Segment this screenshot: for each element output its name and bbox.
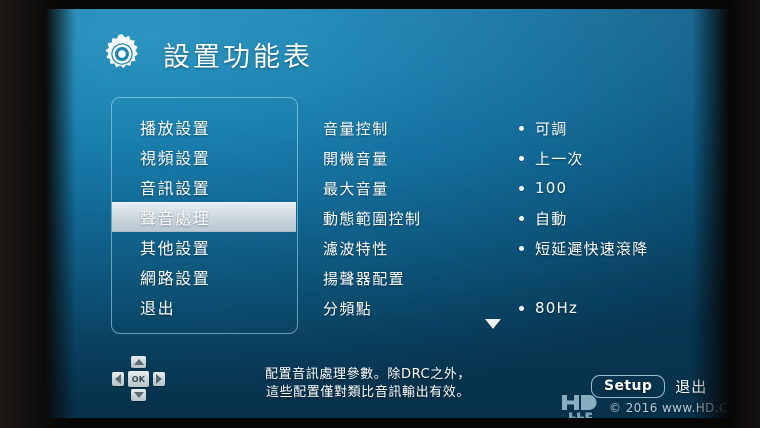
bullet-icon	[519, 156, 524, 161]
setting-value-group: 上一次	[519, 148, 584, 169]
setting-value-group: 可調	[519, 118, 567, 139]
setting-value-group	[519, 276, 535, 281]
setting-label: 最大音量	[323, 178, 519, 199]
setting-value-group: 100	[519, 179, 567, 197]
setting-value-group: 80Hz	[519, 299, 578, 317]
dpad-up-key[interactable]	[131, 356, 146, 368]
sidebar-item[interactable]: 音訊設置	[112, 172, 297, 202]
setting-row[interactable]: 揚聲器配置	[323, 263, 703, 293]
sidebar-item[interactable]: 網路設置	[112, 262, 297, 292]
scroll-down-icon[interactable]	[485, 319, 501, 329]
setting-value[interactable]: 短延遲快速滾降	[535, 238, 648, 259]
sidebar-item[interactable]: 播放設置	[112, 112, 297, 142]
setting-value[interactable]: 100	[535, 179, 567, 197]
watermark: © 2016 www.HD.Club.tw	[562, 395, 748, 418]
help-text-line-1: 配置音訊處理參數。除DRC之外，	[243, 366, 493, 384]
settings-rows: 音量控制可調開機音量上一次最大音量100動態範圍控制自動濾波特性短延遲快速滾降揚…	[323, 113, 703, 323]
setting-row[interactable]: 動態範圍控制自動	[323, 203, 703, 233]
sidebar-item-label: 聲音處理	[140, 205, 210, 229]
hd-club-logo-icon	[562, 395, 600, 418]
setting-value[interactable]: 80Hz	[535, 299, 578, 317]
sidebar-item-label: 播放設置	[140, 115, 210, 139]
page-title: 設置功能表	[163, 35, 313, 74]
setting-row[interactable]: 最大音量100	[323, 173, 703, 203]
dpad-ok-key[interactable]: OK	[128, 371, 149, 387]
setup-exit-label: 退出	[675, 376, 707, 397]
setting-label: 濾波特性	[323, 238, 519, 259]
setting-label: 音量控制	[323, 118, 519, 139]
bullet-icon	[519, 246, 524, 251]
bullet-icon	[519, 186, 524, 191]
dpad-ok-label: OK	[132, 375, 146, 384]
sidebar-item-label: 網路設置	[140, 265, 210, 289]
sidebar-item-label: 音訊設置	[140, 175, 210, 199]
settings-category-menu[interactable]: 播放設置視頻設置音訊設置聲音處理其他設置網路設置退出	[111, 97, 298, 334]
bullet-icon	[519, 306, 524, 311]
help-text-line-2: 這些配置僅對類比音訊輸出有效。	[243, 384, 493, 402]
sidebar-item[interactable]: 聲音處理	[111, 202, 296, 232]
bullet-icon	[519, 126, 524, 131]
sidebar-item[interactable]: 退出	[112, 292, 297, 322]
watermark-text: © 2016 www.HD.Club.tw	[609, 401, 748, 415]
setting-row[interactable]: 開機音量上一次	[323, 143, 703, 173]
help-text: 配置音訊處理參數。除DRC之外， 這些配置僅對類比音訊輸出有效。	[243, 366, 493, 402]
sidebar-item[interactable]: 其他設置	[112, 232, 297, 262]
tv-bezel: 設置功能表 播放設置視頻設置音訊設置聲音處理其他設置網路設置退出 音量控制可調開…	[0, 0, 760, 428]
setting-value-group: 短延遲快速滾降	[519, 238, 648, 259]
gear-icon	[99, 31, 145, 77]
header: 設置功能表	[99, 31, 313, 77]
setting-label: 開機音量	[323, 148, 519, 169]
setting-label: 動態範圍控制	[323, 208, 519, 229]
dpad-down-key[interactable]	[131, 389, 146, 401]
left-arrow-icon	[115, 374, 121, 384]
dpad-right-key[interactable]	[153, 372, 165, 386]
setting-value[interactable]: 上一次	[535, 148, 584, 169]
setting-value-group: 自動	[519, 208, 567, 229]
setting-value[interactable]: 可調	[535, 118, 567, 139]
setting-row[interactable]: 濾波特性短延遲快速滾降	[323, 233, 703, 263]
setting-label: 揚聲器配置	[323, 268, 519, 289]
up-arrow-icon	[134, 359, 144, 365]
sidebar-item-label: 視頻設置	[140, 145, 210, 169]
sidebar-item-label: 退出	[140, 295, 175, 319]
dpad-hint: OK	[112, 356, 170, 402]
setting-row[interactable]: 音量控制可調	[323, 113, 703, 143]
bullet-icon	[519, 216, 524, 221]
sidebar-item-label: 其他設置	[140, 235, 210, 259]
setting-label: 分頻點	[323, 298, 519, 319]
down-arrow-icon	[134, 392, 144, 398]
osd-screen: 設置功能表 播放設置視頻設置音訊設置聲音處理其他設置網路設置退出 音量控制可調開…	[13, 9, 748, 418]
setting-value[interactable]: 自動	[535, 208, 567, 229]
setting-row[interactable]: 分頻點80Hz	[323, 293, 703, 323]
dpad-left-key[interactable]	[112, 372, 124, 386]
right-arrow-icon	[156, 374, 162, 384]
sidebar-item[interactable]: 視頻設置	[112, 142, 297, 172]
